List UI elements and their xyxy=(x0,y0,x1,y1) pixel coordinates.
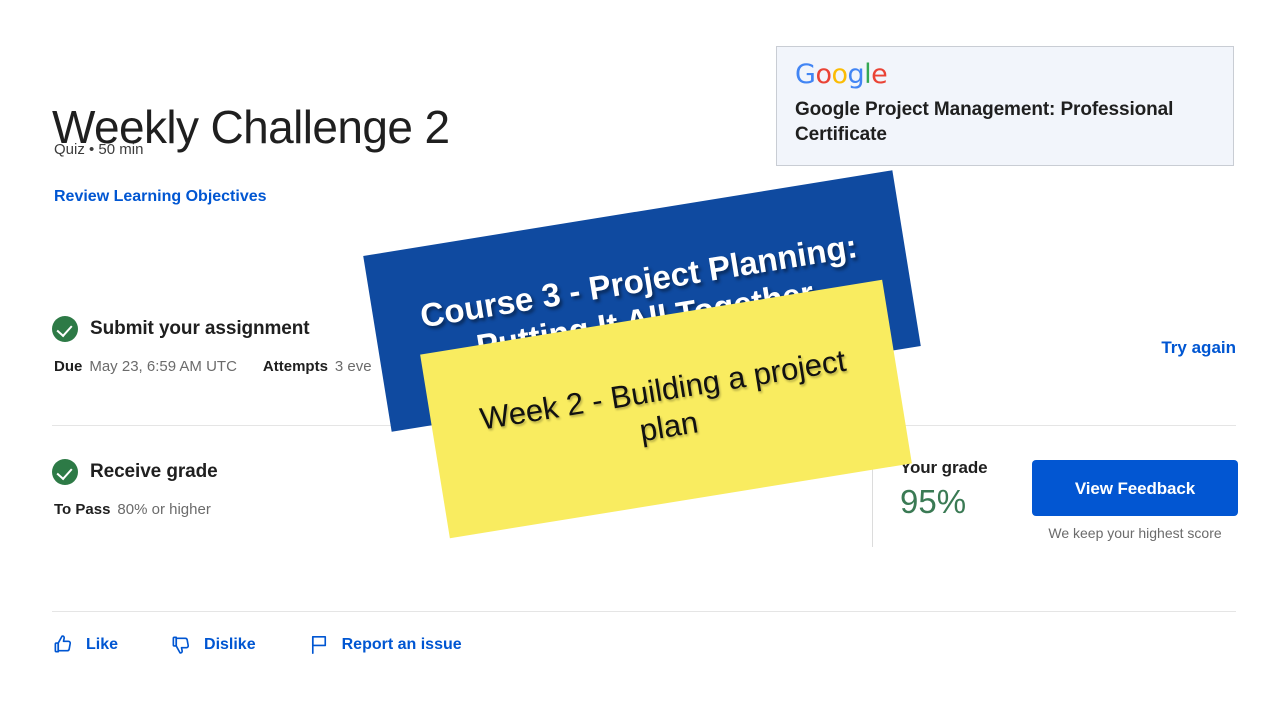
thumbs-down-icon xyxy=(170,633,193,656)
google-logo-letter-o1: o xyxy=(815,59,831,90)
attempts-label: Attempts xyxy=(263,358,328,375)
like-button[interactable]: Like xyxy=(52,633,118,656)
quiz-assignment-page: Google Google Project Management: Profes… xyxy=(0,0,1280,720)
divider-footer xyxy=(52,611,1236,612)
dislike-label: Dislike xyxy=(204,636,256,654)
grade-block: Your grade 95% xyxy=(900,458,1020,520)
google-logo-letter-o2: o xyxy=(831,59,847,90)
step-title: Receive grade xyxy=(90,461,218,483)
highest-score-note: We keep your highest score xyxy=(1032,525,1238,541)
to-pass-value: 80% or higher xyxy=(117,501,210,518)
feedback-area: View Feedback We keep your highest score xyxy=(1032,460,1238,541)
dislike-button[interactable]: Dislike xyxy=(170,633,256,656)
google-logo: Google xyxy=(795,61,1215,88)
footer-actions: Like Dislike Report an issue xyxy=(52,633,514,656)
certificate-card: Google Google Project Management: Profes… xyxy=(776,46,1234,166)
try-again-link[interactable]: Try again xyxy=(1161,338,1236,358)
like-label: Like xyxy=(86,636,118,654)
view-feedback-button[interactable]: View Feedback xyxy=(1032,460,1238,516)
page-subtitle: Quiz • 50 min xyxy=(54,141,143,158)
due-label: Due xyxy=(54,358,82,375)
certificate-title: Google Project Management: Professional … xyxy=(795,97,1215,147)
flag-icon xyxy=(308,633,331,656)
to-pass-label: To Pass xyxy=(54,501,110,518)
google-logo-letter-g2: g xyxy=(848,59,865,90)
due-value: May 23, 6:59 AM UTC xyxy=(89,358,237,375)
attempts-value: 3 eve xyxy=(335,358,372,375)
report-issue-button[interactable]: Report an issue xyxy=(308,633,462,656)
google-logo-letter-e: e xyxy=(871,59,887,90)
your-grade-label: Your grade xyxy=(900,458,1020,478)
step-title: Submit your assignment xyxy=(90,318,310,340)
grade-value: 95% xyxy=(900,484,1020,520)
review-learning-objectives-link[interactable]: Review Learning Objectives xyxy=(54,188,267,206)
report-issue-label: Report an issue xyxy=(342,636,462,654)
google-logo-letter-g1: G xyxy=(795,59,815,90)
green-check-icon xyxy=(52,316,78,342)
thumbs-up-icon xyxy=(52,633,75,656)
green-check-icon xyxy=(52,459,78,485)
